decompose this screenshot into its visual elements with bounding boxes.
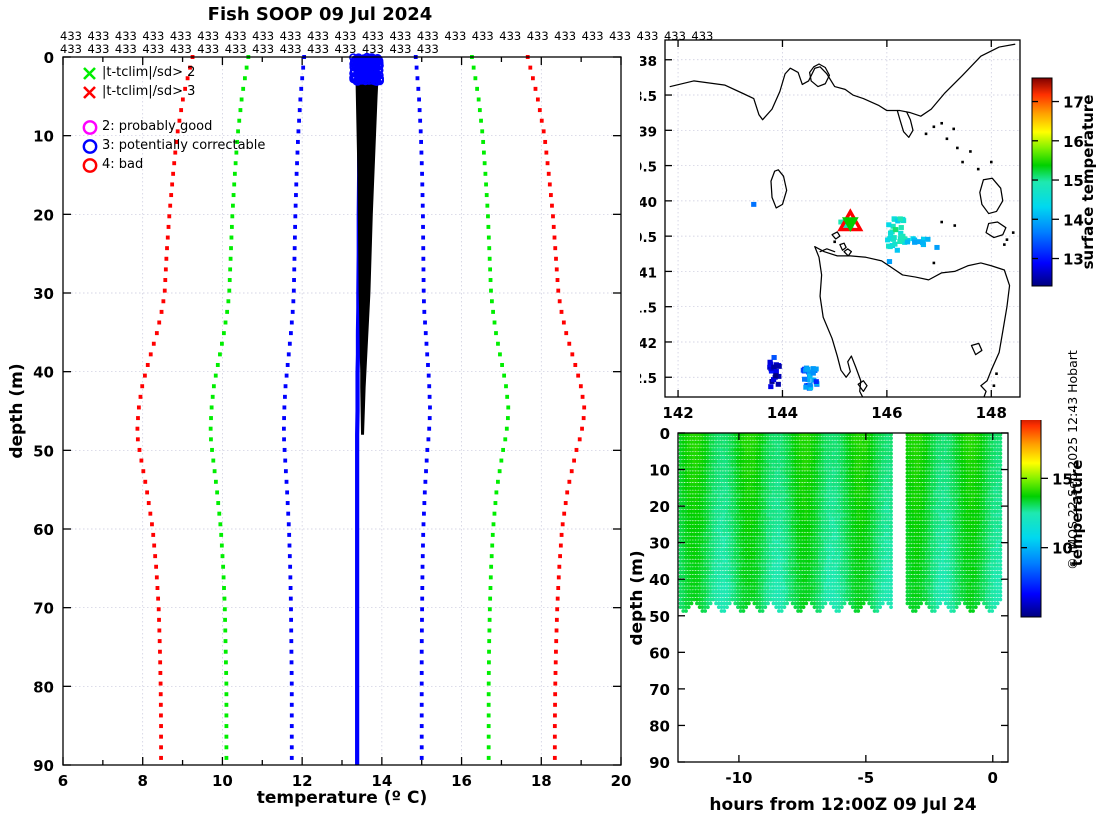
profile-curve-point: [582, 416, 586, 420]
profile-curve-point: [553, 713, 557, 717]
section-data-point: [889, 586, 893, 590]
profile-curve-point: [147, 501, 151, 505]
profile-curve-point: [489, 586, 493, 590]
section-data-point: [889, 578, 893, 582]
coastline-path: [815, 247, 864, 399]
profile-curve-point: [137, 405, 141, 409]
profile-curve-point: [163, 278, 167, 282]
profile-curve-point: [290, 692, 294, 696]
profile-curve-point: [487, 650, 491, 654]
profile-curve-point: [420, 724, 424, 728]
section-data-point: [725, 605, 729, 609]
section-data-point: [804, 601, 808, 605]
profile-curve-point: [218, 522, 222, 526]
coastline-path: [897, 111, 913, 138]
profile-curve-point: [228, 278, 232, 282]
profile-curve-point: [552, 225, 556, 229]
profile-curve-point: [494, 490, 498, 494]
profile-curve-point: [553, 745, 557, 749]
section-data-point: [889, 540, 893, 544]
profile-curve-point: [570, 352, 574, 356]
profile-curve-point: [578, 437, 582, 441]
profile-curve-point: [225, 735, 229, 739]
section-data-point: [859, 605, 863, 609]
profile-curve-point: [222, 331, 226, 335]
profile-curve-point: [225, 756, 229, 760]
profile-curve-point: [221, 554, 225, 558]
profile-curve-point: [417, 97, 421, 101]
profile-curve-point: [228, 267, 232, 271]
legend-item-label: 2: probably good: [102, 119, 212, 134]
profile-curve-point: [504, 384, 508, 388]
section-data-point: [889, 552, 893, 556]
profile-curve-point: [572, 459, 576, 463]
profile-curve-point: [229, 257, 233, 261]
section-data-point: [889, 529, 893, 533]
profile-curve-point: [143, 480, 147, 484]
section-data-point: [889, 563, 893, 567]
map-islet-dot: [961, 161, 964, 164]
profile-curve-point: [421, 533, 425, 537]
profile-curve-point: [554, 671, 558, 675]
section-data-point: [889, 513, 893, 517]
profile-curve-point: [420, 735, 424, 739]
profile-curve-point: [573, 363, 577, 367]
section-data-point: [728, 601, 732, 605]
section-data-point: [889, 486, 893, 490]
profile-curve-point: [422, 522, 426, 526]
section-data-point: [690, 601, 694, 605]
profile-curve-point: [290, 321, 294, 325]
profile-curve-point: [494, 331, 498, 335]
profile-xtick-label: 18: [531, 772, 552, 790]
profile-curve-point: [420, 713, 424, 717]
profile-ytick-label: 40: [33, 364, 54, 382]
section-points: [679, 433, 1003, 613]
section-data-point: [914, 609, 918, 613]
map-tick-marks: [665, 40, 991, 397]
profile-curve-point: [496, 480, 500, 484]
map-islet-dot: [925, 133, 928, 136]
profile-curve-point: [283, 448, 287, 452]
profile-curve-point: [223, 607, 227, 611]
profile-curve-point: [557, 565, 561, 569]
section-data-point: [889, 494, 893, 498]
profile-curve-point: [485, 204, 489, 208]
coastline-path: [771, 170, 787, 208]
profile-curve-point: [421, 246, 425, 250]
profile-curve-point: [477, 97, 481, 101]
section-data-point: [837, 609, 841, 613]
legend-group-qc: 2: probably good3: potentially correctab…: [80, 117, 360, 174]
profile-curve-point: [420, 182, 424, 186]
profile-curve-point: [487, 639, 491, 643]
map-sst-cell: [768, 384, 773, 389]
profile-curve-point: [290, 735, 294, 739]
profile-curve-point: [490, 299, 494, 303]
profile-curve-point: [216, 363, 220, 367]
coastline-path: [820, 249, 835, 252]
profile-curve-point: [164, 257, 168, 261]
profile-curve-point: [490, 554, 494, 558]
profile-ytick-label: 20: [33, 206, 54, 224]
profile-curve-point: [560, 533, 564, 537]
map-islet-dot: [1003, 243, 1006, 246]
profile-curve-point: [421, 225, 425, 229]
profile-curve-point: [422, 278, 426, 282]
section-data-point: [889, 467, 893, 471]
section-data-point: [742, 609, 746, 613]
map-sst-cell: [895, 248, 900, 253]
section-data-point: [783, 605, 787, 609]
profile-curve-point: [225, 310, 229, 314]
profile-curve-point: [489, 289, 493, 293]
profile-curve-point: [496, 342, 500, 346]
profile-curve-point: [487, 735, 491, 739]
profile-curve-point: [288, 554, 292, 558]
profile-curve-point: [420, 682, 424, 686]
profile-ytick-label: 0: [44, 49, 54, 67]
section-data-point: [889, 479, 893, 483]
map-ytick-label: -40.5: [640, 230, 657, 246]
profile-curve-point: [289, 586, 293, 590]
map-islet-dot: [977, 168, 980, 171]
profile-curve-point: [230, 236, 234, 240]
profile-curve-point: [551, 214, 555, 218]
section-data-point: [919, 601, 923, 605]
section-data-point: [889, 605, 893, 609]
map-ytick-label: -39.5: [640, 160, 657, 176]
profile-curve-point: [567, 342, 571, 346]
profile-curve-point: [285, 490, 289, 494]
profile-curve-point: [288, 342, 292, 346]
section-data-point: [703, 609, 707, 613]
profile-curve-point: [139, 459, 143, 463]
profile-curve-point: [428, 395, 432, 399]
map-colorbar-label: surface temperature: [1079, 95, 1097, 270]
profile-curve-point: [136, 416, 140, 420]
profile-curve-point: [287, 352, 291, 356]
profile-curve-point: [420, 151, 424, 155]
section-data-point: [878, 605, 882, 609]
profile-curve-point: [289, 618, 293, 622]
profile-curve-point: [230, 214, 234, 218]
section-data-point: [889, 498, 893, 502]
section-data-point: [889, 582, 893, 586]
coastline-path: [971, 343, 981, 354]
profile-curve-point: [420, 671, 424, 675]
map-islet-dot: [995, 372, 998, 375]
legend-group-flags: |t-tclim|/sd> 2|t-tclim|/sd> 3: [80, 63, 360, 101]
profile-ytick-label: 80: [33, 678, 54, 696]
profile-ytick-label: 10: [33, 128, 54, 146]
profile-curve-point: [488, 628, 492, 632]
coastline-path: [840, 243, 846, 250]
profile-curve-point: [488, 618, 492, 622]
profile-curve-point: [143, 374, 147, 378]
profile-curve-point: [492, 522, 496, 526]
coastline-path: [986, 222, 1006, 238]
profile-curve-point: [287, 533, 291, 537]
profile-curve-point: [475, 87, 479, 91]
profile-curve-point: [163, 289, 167, 293]
section-data-point: [843, 601, 847, 605]
profile-curve-point: [562, 321, 566, 325]
section-data-point: [766, 601, 770, 605]
profile-curve-point: [232, 193, 236, 197]
profile-curve-point: [169, 193, 173, 197]
map-ytick-label: -38: [640, 54, 657, 70]
profile-curve-point: [136, 437, 140, 441]
profile-xtick-label: 6: [58, 772, 68, 790]
section-data-point: [889, 571, 893, 575]
profile-curve-point: [416, 87, 420, 91]
profile-curve-point: [158, 671, 162, 675]
profile-curve-point: [488, 597, 492, 601]
profile-curve-point: [543, 140, 547, 144]
section-data-point: [933, 609, 937, 613]
profile-curve-point: [225, 703, 229, 707]
map-islet-dot: [946, 137, 949, 140]
profile-curve-point: [580, 427, 584, 431]
profile-curve-point: [284, 384, 288, 388]
section-panel: -10-50 0102030405060708090 hours from 12…: [630, 420, 1100, 820]
legend-item-label: |t-tclim|/sd> 3: [102, 84, 195, 99]
profile-curve-point: [288, 575, 292, 579]
profile-curve-point: [493, 321, 497, 325]
profile-curve-point: [553, 735, 557, 739]
section-data-point: [722, 609, 726, 613]
profile-curve-point: [548, 182, 552, 186]
legend-item-label: 4: bad: [102, 157, 143, 172]
profile-curve-point: [293, 257, 297, 261]
section-data-point: [889, 440, 893, 444]
profile-curve-point: [491, 310, 495, 314]
profile-curve-point: [226, 299, 230, 303]
profile-curve-point: [167, 214, 171, 218]
profile-curve-point: [145, 490, 149, 494]
profile-curve-point: [500, 363, 504, 367]
profile-curve-point: [554, 639, 558, 643]
profile-curve-point: [290, 724, 294, 728]
profile-curve-point: [420, 618, 424, 622]
profile-curve-point: [290, 703, 294, 707]
profile-curve-point: [555, 618, 559, 622]
profile-curve-point: [554, 650, 558, 654]
profile-curve-point: [486, 214, 490, 218]
profile-curve-point: [294, 193, 298, 197]
profile-curve-point: [553, 756, 557, 760]
profile-curve-point: [564, 331, 568, 335]
profile-curve-point: [501, 448, 505, 452]
profile-curve-point: [223, 618, 227, 622]
profile-curve-point: [210, 405, 214, 409]
profile-curve-point: [159, 724, 163, 728]
map-sst-cell: [887, 259, 892, 264]
profile-curve-point: [487, 236, 491, 240]
section-data-point: [889, 601, 893, 605]
profile-curve-point: [421, 565, 425, 569]
profile-curve-point: [558, 554, 562, 558]
profile-curve-point: [289, 628, 293, 632]
profile-curve-point: [290, 660, 294, 664]
profile-curve-point: [159, 735, 163, 739]
profile-curve-point: [222, 575, 226, 579]
profile-curve-point: [223, 628, 227, 632]
profile-curve-point: [567, 480, 571, 484]
profile-curve-point: [490, 544, 494, 548]
section-data-point: [709, 601, 713, 605]
profile-curve-point: [553, 692, 557, 696]
profile-ytick-label: 30: [33, 285, 54, 303]
profile-curve-point: [482, 151, 486, 155]
profile-curve-point: [294, 182, 298, 186]
map-gridlines: [665, 40, 1020, 397]
profile-curve-point: [540, 119, 544, 123]
map-sst-cell: [811, 371, 816, 376]
map-sst-cell: [905, 239, 910, 244]
profile-curve-point: [289, 639, 293, 643]
map-ytick-label: -41: [640, 265, 657, 281]
profile-curve-point: [225, 724, 229, 728]
legend-item: |t-tclim|/sd> 3: [80, 82, 360, 101]
profile-curve-point: [294, 204, 298, 208]
profile-curve-point: [292, 267, 296, 271]
profile-curve-point: [290, 756, 294, 760]
profile-curve-point: [159, 703, 163, 707]
profile-curve-point: [546, 161, 550, 165]
profile-curve-point: [155, 575, 159, 579]
map-ytick-label: -40: [640, 195, 657, 211]
profile-curve-point: [420, 607, 424, 611]
section-data-point: [687, 605, 691, 609]
profile-curve-point: [168, 204, 172, 208]
map-sst-cell: [899, 225, 904, 230]
profile-curve-point: [218, 352, 222, 356]
map-sst-cell: [751, 202, 756, 207]
profile-curve-point: [420, 703, 424, 707]
profile-curve-point: [421, 575, 425, 579]
profile-curve-point: [505, 395, 509, 399]
profile-curve-point: [232, 182, 236, 186]
profile-curve-point: [553, 236, 557, 240]
legend-item: 4: bad: [80, 155, 360, 174]
map-ytick-label: -42: [640, 336, 657, 352]
profile-curve-point: [555, 607, 559, 611]
section-data-point: [889, 436, 893, 440]
profile-curve-point: [427, 427, 431, 431]
profile-curve-point: [285, 374, 289, 378]
profile-curve-point: [286, 512, 290, 516]
profile-curve-point: [420, 628, 424, 632]
section-data-point: [889, 505, 893, 509]
profile-curve-point: [556, 597, 560, 601]
map-sst-cell: [891, 237, 896, 242]
profile-curve-point: [557, 575, 561, 579]
profile-curve-point: [556, 278, 560, 282]
map-ytick-label: -41.5: [640, 301, 657, 317]
section-data-point: [889, 567, 893, 571]
profile-curve-point: [141, 469, 145, 473]
profile-curve-point: [570, 469, 574, 473]
profile-curve-point: [224, 321, 228, 325]
profile-curve-point: [423, 321, 427, 325]
profile-curve-point: [284, 469, 288, 473]
profile-curve-point: [576, 374, 580, 378]
profile-curve-point: [227, 289, 231, 293]
profile-curve-point: [158, 650, 162, 654]
profile-curve-point: [487, 703, 491, 707]
profile-curve-point: [420, 756, 424, 760]
profile-curve-point: [564, 501, 568, 505]
profile-curve-point: [536, 97, 540, 101]
profile-curve-point: [170, 182, 174, 186]
profile-curve-point: [489, 575, 493, 579]
map-axes-frame: [665, 40, 1020, 397]
profile-xtick-label: 10: [212, 772, 233, 790]
profile-curve-point: [419, 129, 423, 133]
map-sst-cell: [772, 355, 777, 360]
profile-curve-point: [486, 225, 490, 229]
profile-curve-point: [550, 204, 554, 208]
profile-curve-point: [221, 565, 225, 569]
profile-curve-point: [420, 650, 424, 654]
profile-curve-point: [487, 682, 491, 686]
profile-curve-point: [498, 469, 502, 473]
map-islet-dot: [953, 224, 956, 227]
section-data-point: [889, 544, 893, 548]
profile-curve-point: [421, 214, 425, 218]
profile-curve-point: [220, 342, 224, 346]
profile-curve-point: [582, 405, 586, 409]
map-islet-dot: [933, 125, 936, 128]
profile-curve-point: [282, 416, 286, 420]
profile-curve-point: [420, 660, 424, 664]
profile-curve-point: [420, 586, 424, 590]
profile-curve-point: [139, 395, 143, 399]
profile-curve-point: [424, 331, 428, 335]
profile-curve-point: [487, 660, 491, 664]
profile-curve-point: [421, 193, 425, 197]
profile-curve-point: [484, 172, 488, 176]
profile-curve-point: [224, 660, 228, 664]
profile-curve-point: [420, 172, 424, 176]
profile-curve-point: [423, 490, 427, 494]
profile-curve-point: [423, 480, 427, 484]
profile-curve-point: [158, 639, 162, 643]
map-sst-cell: [767, 360, 772, 365]
map-islet-dot: [1006, 238, 1009, 241]
profile-curve-point: [290, 713, 294, 717]
map-ytick-labels: -38-38.5-39-39.5-40-40.5-41-41.5-42-42.5: [640, 54, 657, 387]
profile-curve-point: [422, 299, 426, 303]
map-colorbar: [1032, 78, 1052, 286]
section-data-point: [889, 598, 893, 602]
map-position-marker: [840, 212, 860, 230]
profile-curve-point: [427, 384, 431, 388]
section-data-point: [856, 609, 860, 613]
profile-curve-point: [487, 692, 491, 696]
profile-curve-point: [289, 607, 293, 611]
profile-curve-point: [215, 490, 219, 494]
section-data-point: [889, 448, 893, 452]
section-data-point: [936, 605, 940, 609]
profile-curve-point: [494, 501, 498, 505]
profile-curve-point: [502, 374, 506, 378]
profile-curve-point: [542, 129, 546, 133]
profile-curve-point: [418, 108, 422, 112]
profile-curve-point: [288, 544, 292, 548]
